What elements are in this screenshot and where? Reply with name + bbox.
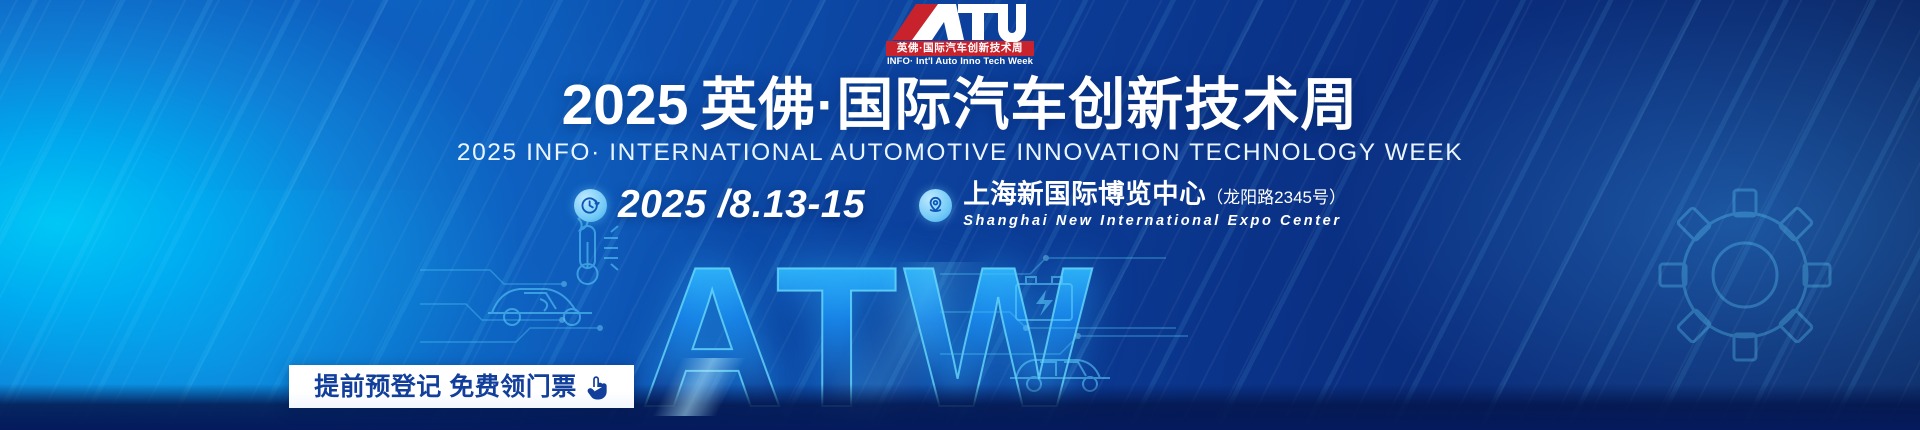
atw-watermark: ATW [640, 252, 1099, 424]
pointing-hand-icon [585, 374, 609, 400]
map-pin-icon [919, 189, 952, 222]
atw-logo: 英佛·国际汽车创新技术周 INFO· Int'l Auto Inno Tech … [886, 2, 1034, 68]
venue-text-block: 上海新国际博览中心（龙阳路2345号） Shanghai New Interna… [963, 180, 1346, 230]
clock-icon [574, 189, 607, 222]
page-title: 2025英佛·国际汽车创新技术周 [0, 74, 1920, 136]
circuit-lines-left [420, 250, 620, 370]
bottom-band [0, 384, 1920, 430]
venue-name-english: Shanghai New International Expo Center [963, 213, 1346, 230]
cta-light-sheen [634, 358, 764, 416]
circuit-lines-right [940, 250, 1200, 380]
event-venue-item: 上海新国际博览中心（龙阳路2345号） Shanghai New Interna… [919, 180, 1346, 230]
register-cta-label: 提前预登记 免费领门票 [314, 373, 576, 401]
battery-icon [1008, 268, 1080, 330]
event-date: 2025 /8.13-15 [618, 185, 865, 225]
page-subtitle-english: 2025 INFO· INTERNATIONAL AUTOMOTIVE INNO… [0, 138, 1920, 168]
car-outline-icon [480, 265, 600, 335]
venue-name-main: 上海新国际博览中心 [963, 179, 1206, 209]
vehicle-outline-icon [1000, 340, 1120, 402]
atw-logo-english: INFO· Int'l Auto Inno Tech Week [886, 56, 1034, 68]
atw-logo-red-band: 英佛·国际汽车创新技术周 [886, 41, 1034, 56]
event-date-item: 2025 /8.13-15 [574, 185, 865, 225]
venue-name-chinese: 上海新国际博览中心（龙阳路2345号） [963, 179, 1346, 209]
title-year: 2025 [562, 73, 689, 137]
venue-address: （龙阳路2345号） [1206, 188, 1346, 207]
title-chinese: 英佛·国际汽车创新技术周 [700, 73, 1358, 137]
event-banner: ATW ATW [0, 0, 1920, 430]
event-info-row: 2025 /8.13-15 上海新国际博览中心（龙阳路2345号） Shangh… [0, 180, 1920, 230]
register-cta-button[interactable]: 提前预登记 免费领门票 [289, 365, 634, 408]
banner-content: 英佛·国际汽车创新技术周 INFO· Int'l Auto Inno Tech … [0, 0, 1920, 230]
atw-logo-mark-icon [886, 2, 1034, 42]
atw-watermark-outline: ATW [640, 252, 1099, 424]
